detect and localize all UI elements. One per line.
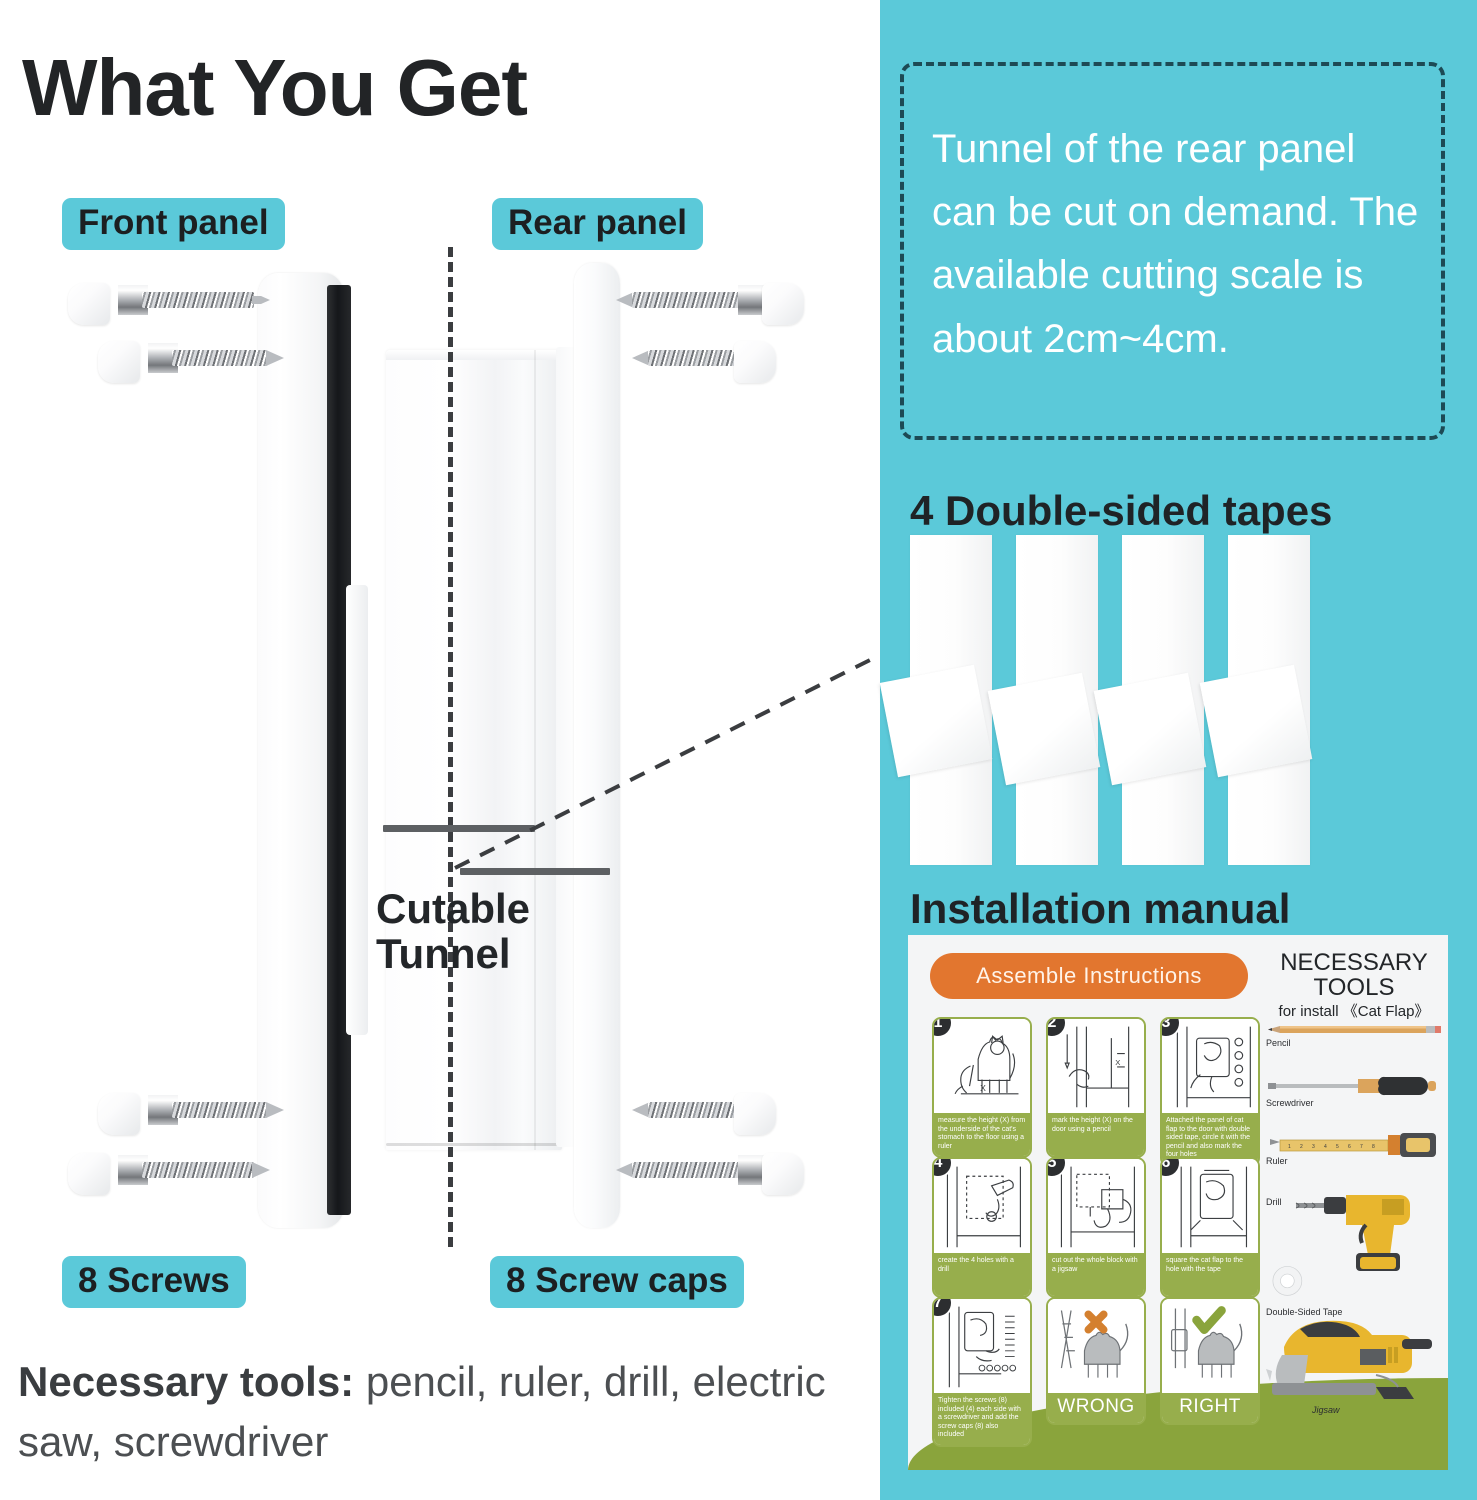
screwdriver-icon — [1266, 1075, 1442, 1097]
screw-thread — [142, 1162, 254, 1178]
installation-manual-card: Assemble Instructions NECESSARY TOOLS fo… — [908, 935, 1448, 1470]
front-panel-inner-tab — [346, 585, 368, 1035]
jigsaw-icon — [1260, 1313, 1446, 1413]
step-5-jigsaw-cut-icon — [1048, 1159, 1144, 1253]
step-1-cat-measure-icon: X — [934, 1019, 1030, 1113]
product-photo: Cutable Tunnel — [0, 255, 880, 1245]
right-column: Tunnel of the rear panel can be cut on d… — [880, 0, 1477, 1500]
step-illustration: 6 — [1162, 1159, 1258, 1253]
verdict-label: RIGHT — [1162, 1393, 1258, 1423]
svg-text:X: X — [980, 1083, 986, 1093]
screw-cap-left-4 — [68, 1153, 110, 1195]
necessary-tools-heading-line1: NECESSARY — [1266, 951, 1442, 976]
step-illustration: 2 X — [1048, 1019, 1144, 1113]
step-caption: Tighten the screws (8) included (4) each… — [934, 1393, 1030, 1445]
cutting-scale-callout: Tunnel of the rear panel can be cut on d… — [900, 62, 1445, 440]
verdict-illustration — [1162, 1299, 1258, 1393]
screw-thread — [172, 350, 268, 366]
cutable-tunnel-label: Cutable Tunnel — [376, 887, 530, 976]
cut-line-dashed — [448, 247, 453, 1247]
necessary-tools-heading-line3: for install 《Cat Flap》 — [1266, 1004, 1442, 1020]
tool-double-sided-tape: Double-Sided Tape — [1266, 1261, 1442, 1321]
step-caption: mark the height (X) on the door using a … — [1048, 1113, 1144, 1156]
tape-peel-flap — [880, 665, 993, 778]
tool-drill-label: Drill — [1266, 1197, 1282, 1207]
tunnel-scale-mark-lower — [460, 868, 610, 875]
necessary-tools-label: Necessary tools: — [18, 1358, 354, 1405]
manual-step: 1 X — [932, 1017, 1032, 1158]
screw-cap-right-2 — [734, 341, 776, 383]
tape-roll-icon — [1266, 1261, 1328, 1305]
step-illustration: 5 — [1048, 1159, 1144, 1253]
rear-panel-body — [574, 263, 620, 1228]
manual-step: 2 X mark the heigh — [1046, 1017, 1146, 1158]
tool-jigsaw-label: Jigsaw — [1312, 1405, 1340, 1415]
screw-cap-right-4 — [762, 1153, 804, 1195]
svg-text:4: 4 — [1324, 1144, 1327, 1150]
verdict-right: RIGHT — [1160, 1297, 1260, 1425]
ruler-icon: 123 456 78 — [1266, 1133, 1442, 1157]
wrong-cat-ladder-icon — [1048, 1299, 1144, 1393]
verdict-wrong: WRONG — [1046, 1297, 1146, 1425]
badge-8-screws: 8 Screws — [62, 1256, 246, 1308]
svg-text:1: 1 — [1288, 1144, 1291, 1150]
svg-text:X: X — [1115, 1058, 1120, 1067]
step-caption: square the cat flap to the hole with the… — [1162, 1253, 1258, 1296]
step-illustration: 3 — [1162, 1019, 1258, 1113]
svg-text:7: 7 — [1360, 1144, 1363, 1150]
cutting-scale-callout-text: Tunnel of the rear panel can be cut on d… — [932, 118, 1424, 371]
badge-8-screw-caps: 8 Screw caps — [490, 1256, 744, 1308]
screw-cap-left-3 — [98, 1093, 140, 1135]
cutable-tunnel-label-line1: Cutable — [376, 887, 530, 932]
tape-peel-flap — [988, 673, 1101, 786]
manual-step: 3 Attached the — [1160, 1017, 1260, 1167]
tape-peel-flap — [1200, 665, 1313, 778]
step-3-attach-panel-icon — [1162, 1019, 1258, 1113]
tool-screwdriver-label: Screwdriver — [1266, 1098, 1314, 1108]
screw-cap-right-1 — [762, 283, 804, 325]
tapes-section-title: 4 Double-sided tapes — [910, 490, 1332, 532]
step-7-tighten-screws-icon — [934, 1299, 1030, 1393]
infographic-page: What You Get Front panel Rear panel 8 Sc… — [0, 0, 1477, 1500]
screw-tip — [252, 1162, 270, 1178]
tool-pencil: Pencil — [1266, 1021, 1442, 1051]
step-6-square-flap-icon — [1162, 1159, 1258, 1253]
tool-jigsaw: Jigsaw — [1260, 1313, 1446, 1423]
screw-left-3 — [148, 1095, 284, 1125]
svg-text:6: 6 — [1348, 1144, 1351, 1150]
screw-left-1 — [118, 285, 270, 315]
assemble-instructions-pill: Assemble Instructions — [930, 953, 1248, 999]
cutable-tunnel-label-line2: Tunnel — [376, 932, 530, 977]
double-sided-tapes-group — [910, 535, 1320, 865]
step-caption: cut out the whole block with a jigsaw — [1048, 1253, 1144, 1296]
pencil-icon — [1266, 1021, 1442, 1037]
badge-rear-panel: Rear panel — [492, 198, 703, 250]
svg-text:2: 2 — [1300, 1144, 1303, 1150]
step-4-drill-holes-icon — [934, 1159, 1030, 1253]
screw-thread — [632, 292, 744, 308]
manual-step: 4 create the 4 holes with a drill — [932, 1157, 1032, 1298]
svg-text:5: 5 — [1336, 1144, 1339, 1150]
screw-thread — [632, 1162, 744, 1178]
screw-right-4 — [616, 1155, 768, 1185]
tape-peel-flap — [1094, 673, 1207, 786]
tool-pencil-label: Pencil — [1266, 1038, 1291, 1048]
screw-tip — [266, 1102, 284, 1118]
svg-text:3: 3 — [1312, 1144, 1315, 1150]
manual-step: 6 square the cat flap to the hole with t… — [1160, 1157, 1260, 1298]
screw-tip — [266, 350, 284, 366]
left-column: What You Get Front panel Rear panel 8 Sc… — [0, 0, 880, 1500]
step-caption: measure the height (X) from the undersid… — [934, 1113, 1030, 1156]
screw-right-1 — [616, 285, 768, 315]
necessary-tools-heading: NECESSARY TOOLS for install 《Cat Flap》 — [1266, 951, 1442, 1020]
screw-thread — [142, 292, 254, 308]
tool-ruler-label: Ruler — [1266, 1156, 1288, 1166]
verdict-label: WRONG — [1048, 1393, 1144, 1423]
screw-cap-left-2 — [98, 341, 140, 383]
screw-cap-right-3 — [734, 1093, 776, 1135]
step-caption: create the 4 holes with a drill — [934, 1253, 1030, 1296]
manual-step: 5 cut out the whole block with — [1046, 1157, 1146, 1298]
svg-text:8: 8 — [1372, 1144, 1375, 1150]
necessary-tools-heading-line2: TOOLS — [1266, 976, 1442, 1001]
right-cat-flap-icon — [1162, 1299, 1258, 1393]
badge-front-panel: Front panel — [62, 198, 285, 250]
screw-left-2 — [148, 343, 284, 373]
necessary-tools-line: Necessary tools: pencil, ruler, drill, e… — [18, 1352, 848, 1471]
screw-thread — [648, 350, 744, 366]
screw-thread — [172, 1102, 268, 1118]
step-illustration: 7 — [934, 1299, 1030, 1393]
manual-step: 7 — [932, 1297, 1032, 1447]
screw-thread — [648, 1102, 744, 1118]
screw-tip — [252, 292, 270, 308]
tool-ruler: 123 456 78 Ruler — [1266, 1133, 1442, 1167]
step-illustration: 4 — [934, 1159, 1030, 1253]
tunnel-seam — [534, 350, 536, 1150]
page-title: What You Get — [22, 48, 527, 128]
tunnel-scale-mark-upper — [383, 825, 535, 832]
step-2-mark-height-icon: X — [1048, 1019, 1144, 1113]
manual-section-title: Installation manual — [910, 888, 1290, 930]
verdict-illustration — [1048, 1299, 1144, 1393]
screw-cap-left-1 — [68, 283, 110, 325]
tool-screwdriver: Screwdriver — [1266, 1075, 1442, 1109]
tunnel-bottom-edge — [386, 1143, 562, 1146]
screw-left-4 — [118, 1155, 270, 1185]
step-illustration: 1 X — [934, 1019, 1030, 1113]
assemble-instructions-label: Assemble Instructions — [930, 953, 1248, 999]
